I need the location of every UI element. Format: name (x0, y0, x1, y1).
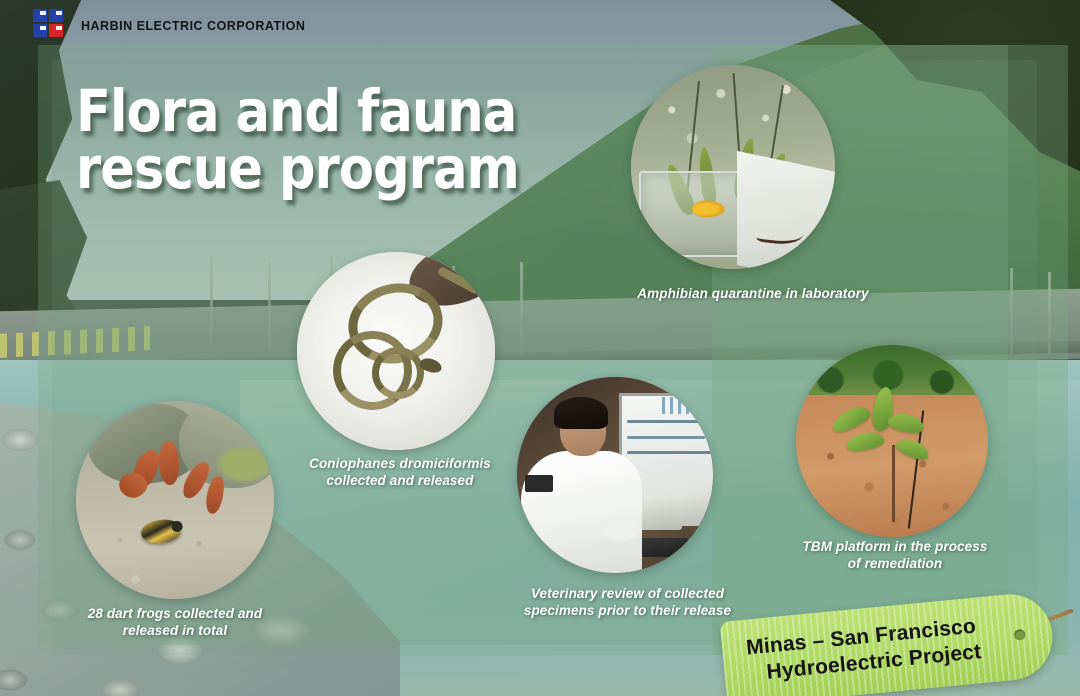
photo-veterinary-review (517, 377, 713, 573)
caption-vet-line-1: Veterinary review of collected (531, 586, 724, 601)
caption-tbm-platform: TBM platform in the process of remediati… (770, 538, 1020, 573)
lab-bench (737, 151, 835, 269)
caption-snake-line-1: Coniophanes dromiciformis (309, 456, 491, 471)
logo-block-bottom-left (33, 24, 47, 37)
photo-dart-frogs (76, 401, 274, 599)
page-title: Flora and fauna rescue program (76, 84, 569, 196)
sapling-stem (892, 445, 895, 522)
caption-snake-line-2: collected and released (326, 473, 473, 488)
lab-flower (692, 200, 726, 218)
caption-frog-line-1: 28 dart frogs collected and (88, 606, 263, 621)
vet-badge (525, 475, 553, 492)
logo-block-top-left (33, 9, 47, 22)
caption-tbm-line-1: TBM platform in the process (803, 539, 988, 554)
caption-snake-released: Coniophanes dromiciformis collected and … (285, 455, 515, 490)
specimen-container (674, 491, 713, 526)
caption-tbm-line-2: of remediation (848, 556, 942, 571)
vet-hair (554, 397, 608, 429)
title-line-2: rescue program (76, 141, 569, 196)
logo-block-bottom-right (49, 24, 63, 37)
harbin-electric-logo (33, 9, 63, 37)
vet-whiteboard-line (627, 436, 705, 439)
photo-amphibian-quarantine (631, 65, 835, 269)
caption-dart-frogs: 28 dart frogs collected and released in … (55, 605, 295, 640)
photo-tbm-platform (796, 345, 988, 537)
photo-snake-released (297, 252, 495, 450)
slide-header: HARBIN ELECTRIC CORPORATION (0, 0, 1080, 45)
presentation-slide: HARBIN ELECTRIC CORPORATION Flora and fa… (0, 0, 1080, 696)
vet-lab-coat (521, 451, 643, 573)
company-name: HARBIN ELECTRIC CORPORATION (81, 19, 305, 33)
vet-whiteboard-line (627, 420, 713, 423)
caption-amphibian-quarantine: Amphibian quarantine in laboratory (608, 285, 898, 302)
frog-moss (215, 445, 274, 485)
vet-whiteboard-marks (662, 397, 705, 415)
snake-coil-inner (372, 347, 423, 398)
vet-glove (603, 518, 637, 540)
logo-block-top-right (49, 9, 63, 22)
caption-veterinary-review: Veterinary review of collected specimens… (495, 585, 760, 620)
tbm-treeline (796, 345, 988, 395)
caption-vet-line-2: specimens prior to their release (524, 603, 731, 618)
caption-frog-line-2: released in total (123, 623, 228, 638)
